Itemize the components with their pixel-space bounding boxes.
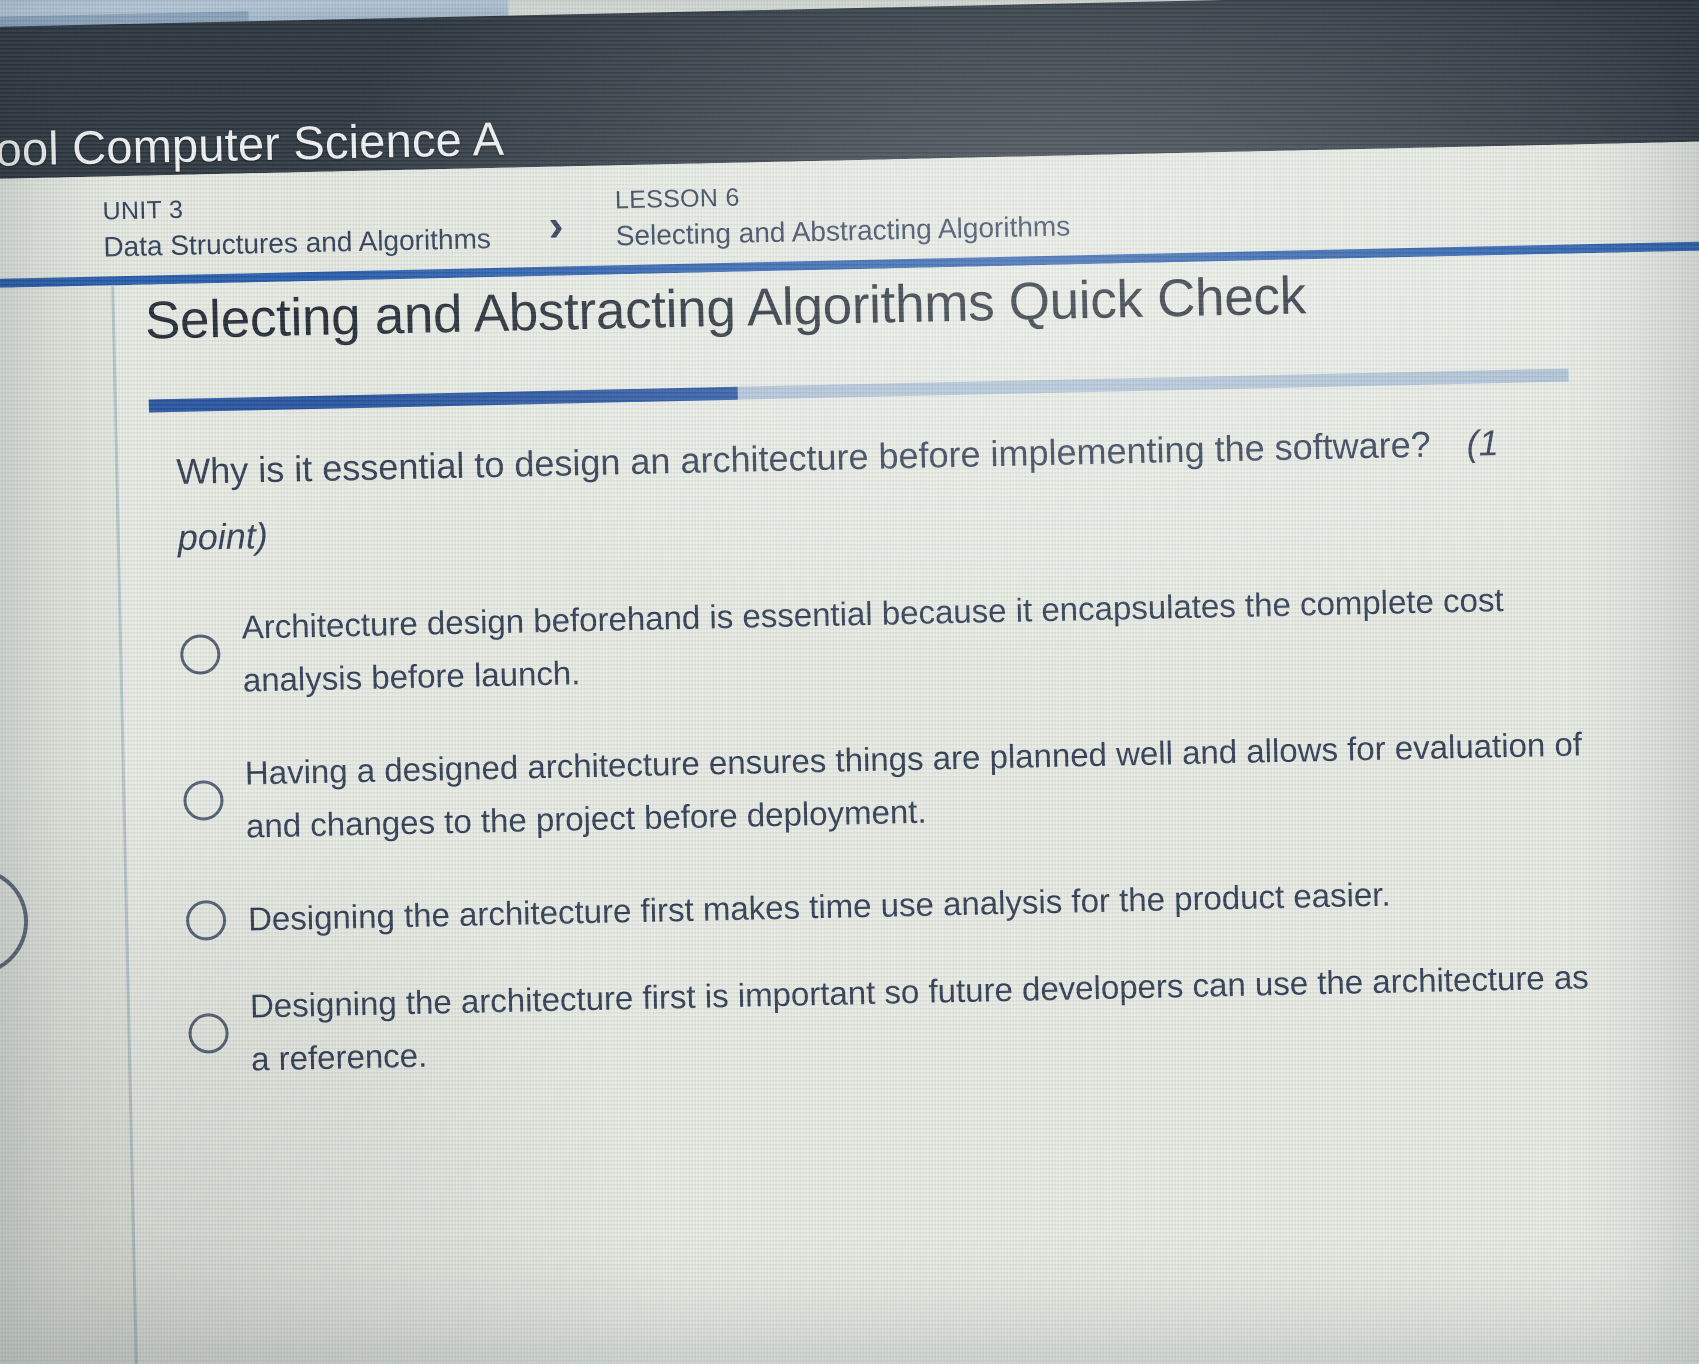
radio-button-icon[interactable] xyxy=(188,1013,229,1054)
answer-options: Architecture design beforehand is essent… xyxy=(179,571,1610,1127)
chevron-right-icon: › xyxy=(548,202,564,247)
progress-bar-fill xyxy=(149,387,738,413)
question-prompt: Why is it essential to design an archite… xyxy=(176,410,1519,571)
answer-option-label: Having a designed architecture ensures t… xyxy=(244,717,1604,853)
breadcrumb-unit[interactable]: UNIT 3 Data Structures and Algorithms xyxy=(102,186,491,266)
radio-button-icon[interactable] xyxy=(180,634,221,675)
screen-photo: hool Computer Science A UNIT 3 Data Stru… xyxy=(0,0,1699,1364)
chevron-left-icon xyxy=(0,891,12,929)
breadcrumb-lesson[interactable]: LESSON 6 Selecting and Abstracting Algor… xyxy=(615,173,1071,255)
answer-option-2[interactable]: Having a designed architecture ensures t… xyxy=(182,717,1604,854)
radio-button-icon[interactable] xyxy=(183,780,224,821)
radio-button-icon[interactable] xyxy=(186,899,227,940)
answer-option-label: Designing the architecture first is impo… xyxy=(249,950,1609,1086)
breadcrumb-unit-name: Data Structures and Algorithms xyxy=(103,220,491,266)
answer-option-1[interactable]: Architecture design beforehand is essent… xyxy=(179,571,1601,708)
screen-content: hool Computer Science A UNIT 3 Data Stru… xyxy=(0,0,1699,1364)
answer-option-label: Architecture design beforehand is essent… xyxy=(241,571,1601,707)
site-title: hool Computer Science A xyxy=(0,111,505,178)
progress-bar-track xyxy=(149,369,1569,413)
left-rail xyxy=(0,285,139,1364)
answer-option-4[interactable]: Designing the architecture first is impo… xyxy=(187,950,1609,1087)
question-text: Why is it essential to design an archite… xyxy=(176,424,1431,492)
answer-option-3[interactable]: Designing the architecture first makes t… xyxy=(186,863,1607,947)
answer-option-label: Designing the architecture first makes t… xyxy=(247,868,1391,946)
main-content: Selecting and Abstracting Algorithms Qui… xyxy=(132,251,1699,1364)
